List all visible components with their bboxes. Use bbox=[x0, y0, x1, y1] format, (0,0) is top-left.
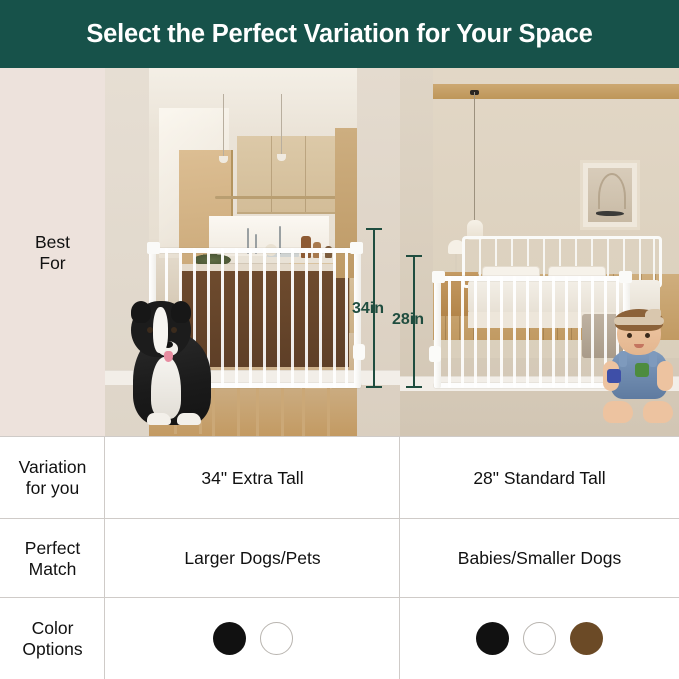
dog-paw-right bbox=[177, 413, 201, 425]
color-swatch-brown[interactable] bbox=[570, 622, 603, 655]
row-label-variation: Variation for you bbox=[0, 437, 105, 519]
divider-label-column bbox=[104, 437, 105, 679]
baby-leg-right bbox=[643, 401, 673, 423]
divider-middle-column bbox=[399, 437, 400, 679]
border-collie-dog bbox=[123, 293, 219, 425]
row-label-line-1: Perfect bbox=[25, 538, 80, 559]
bedroom-art-arch-shape bbox=[598, 173, 627, 208]
gate-latch bbox=[353, 344, 365, 360]
baby-toy-block-blue bbox=[607, 369, 621, 383]
row-label-line-1: Variation bbox=[19, 457, 87, 478]
bedroom-framed-art bbox=[580, 160, 640, 230]
dog-chest bbox=[151, 357, 181, 419]
baby-eye-left bbox=[627, 333, 632, 338]
variation-left-value: 34" Extra Tall bbox=[105, 437, 400, 519]
dog-eye-right bbox=[171, 327, 177, 333]
row-label-line-1: Color bbox=[32, 618, 74, 639]
table-row-variation: Variation for you 34" Extra Tall 28" Sta… bbox=[0, 437, 679, 519]
hero-images: 34in 28in bbox=[105, 68, 679, 437]
comparison-infographic: Select the Perfect Variation for Your Sp… bbox=[0, 0, 679, 679]
kitchen-pendant-shade-2 bbox=[277, 154, 286, 161]
bedroom-art-canvas bbox=[588, 168, 632, 222]
table-row-color-options: Color Options bbox=[0, 598, 679, 679]
baby-headband-bow bbox=[645, 309, 661, 321]
baby-overall-strap-left bbox=[619, 351, 627, 367]
bedroom-lamp-stem bbox=[455, 254, 457, 272]
measure-cap-bottom-34in bbox=[366, 386, 382, 388]
divider-variation-match bbox=[0, 518, 679, 519]
kitchen-pendant-cord-1 bbox=[223, 94, 224, 158]
color-swatch-white[interactable] bbox=[260, 622, 293, 655]
gate-cap-left bbox=[432, 271, 445, 283]
divider-hero-variation bbox=[0, 436, 679, 437]
header-banner: Select the Perfect Variation for Your Sp… bbox=[0, 0, 679, 68]
variation-right-value: 28" Standard Tall bbox=[400, 437, 679, 519]
row-label-line-2: For bbox=[39, 253, 65, 274]
dog-face-blaze bbox=[153, 307, 168, 353]
dog-paw-left bbox=[147, 413, 171, 425]
color-options-left bbox=[105, 598, 400, 679]
row-label-perfect-match: Perfect Match bbox=[0, 519, 105, 598]
measure-label-28in: 28in bbox=[392, 311, 424, 329]
kitchen-pendant-cord-2 bbox=[281, 94, 282, 156]
baby-toddler bbox=[601, 311, 675, 423]
measure-cap-top-34in bbox=[366, 228, 382, 230]
color-swatch-group-left bbox=[213, 622, 293, 655]
gate-latch bbox=[429, 346, 441, 362]
comparison-table: Best For bbox=[0, 68, 679, 679]
scene-kitchen bbox=[105, 68, 400, 437]
color-options-right bbox=[400, 598, 679, 679]
measure-cap-top-28in bbox=[406, 255, 422, 257]
row-label-best-for: Best For bbox=[0, 68, 105, 437]
measure-cap-bottom-28in bbox=[406, 386, 422, 388]
divider-match-color bbox=[0, 597, 679, 598]
row-label-line-2: Match bbox=[29, 559, 77, 580]
gate-cap-right bbox=[350, 242, 363, 254]
perfect-match-right-value: Babies/Smaller Dogs bbox=[400, 519, 679, 598]
page-title: Select the Perfect Variation for Your Sp… bbox=[86, 20, 592, 49]
baby-leg-left bbox=[603, 401, 633, 423]
baby-toy-block-green bbox=[635, 363, 649, 377]
row-label-color-options: Color Options bbox=[0, 598, 105, 679]
row-label-line-1: Best bbox=[35, 232, 70, 253]
baby-eye-right bbox=[645, 333, 650, 338]
bedroom-pendant-cord bbox=[474, 92, 475, 222]
scene-bedroom bbox=[400, 68, 679, 437]
dog-ear-left bbox=[131, 301, 151, 323]
gate-cap-left bbox=[147, 242, 160, 254]
color-swatch-black[interactable] bbox=[476, 622, 509, 655]
perfect-match-left-value: Larger Dogs/Pets bbox=[105, 519, 400, 598]
color-swatch-group-right bbox=[476, 622, 603, 655]
table-row-perfect-match: Perfect Match Larger Dogs/Pets Babies/Sm… bbox=[0, 519, 679, 598]
baby-arm-right bbox=[657, 361, 673, 391]
kitchen-pendant-shade-1 bbox=[219, 156, 228, 163]
row-label-line-2: for you bbox=[26, 478, 80, 499]
dog-ear-right bbox=[171, 301, 191, 323]
baby-overall-strap-right bbox=[649, 351, 657, 367]
color-swatch-white[interactable] bbox=[523, 622, 556, 655]
gate-cap-right bbox=[619, 271, 632, 283]
row-label-line-2: Options bbox=[22, 639, 82, 660]
color-swatch-black[interactable] bbox=[213, 622, 246, 655]
dog-tongue bbox=[164, 351, 173, 362]
measure-label-34in: 34in bbox=[352, 300, 384, 318]
bedroom-art-dark-shape bbox=[596, 211, 624, 216]
